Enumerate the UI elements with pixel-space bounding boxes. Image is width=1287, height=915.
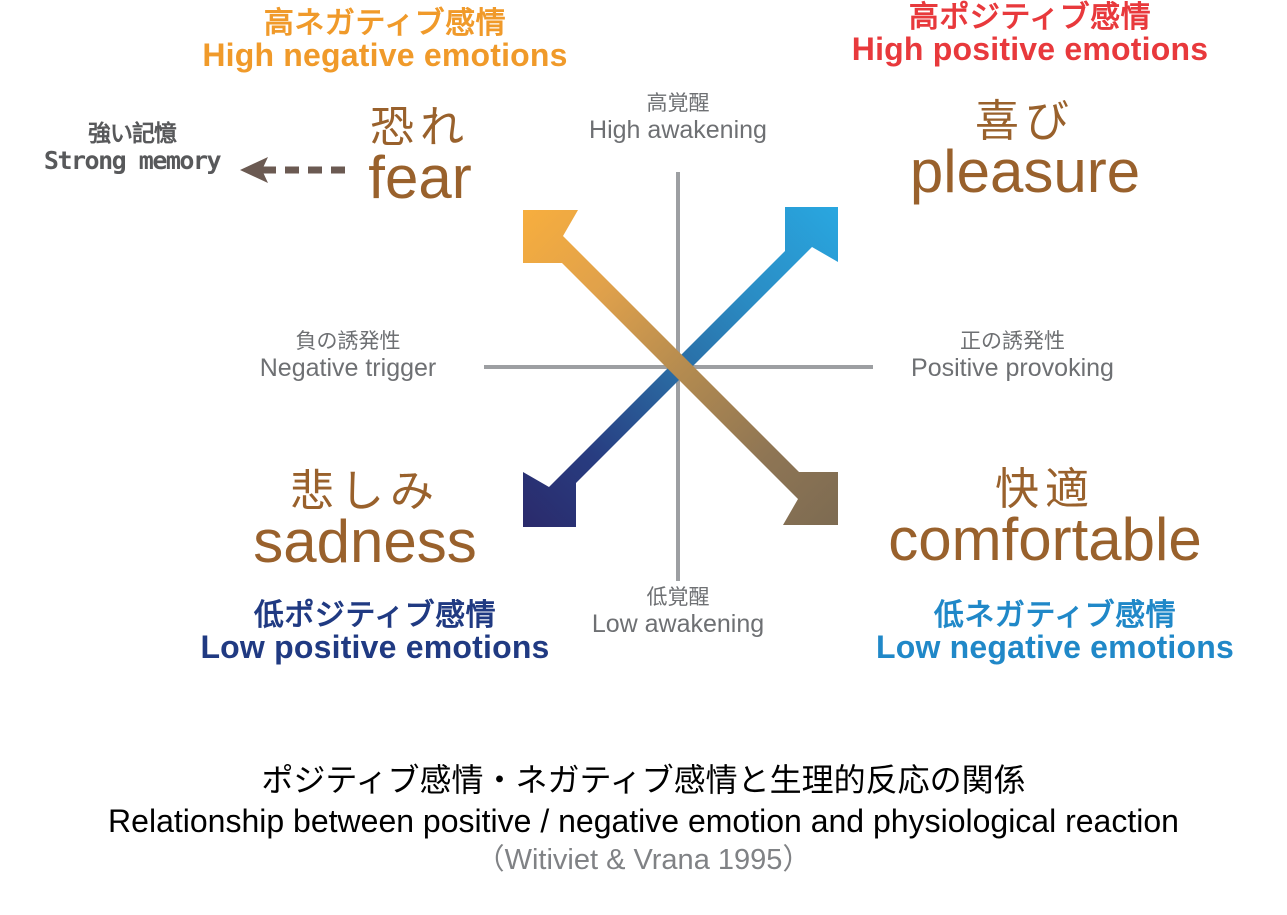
- axis-label-negative-trigger: 負の誘発性 Negative trigger: [238, 330, 458, 382]
- emotion-label-fear: 恐れ fear: [310, 106, 530, 208]
- quadrant-label-low-negative-jp: 低ネガティブ感情: [840, 600, 1270, 631]
- emotion-label-sadness-en: sadness: [215, 512, 515, 572]
- quadrant-label-low-positive: 低ポジティブ感情 Low positive emotions: [150, 600, 600, 664]
- figure-caption-en: Relationship between positive / negative…: [0, 801, 1287, 842]
- diagram-canvas: 高ネガティブ感情 High negative emotions 高ポジティブ感情…: [0, 0, 1287, 915]
- axis-label-high-awakening-en: High awakening: [568, 116, 788, 144]
- quadrant-label-low-negative: 低ネガティブ感情 Low negative emotions: [840, 600, 1270, 664]
- axis-label-high-awakening-jp: 高覚醒: [568, 92, 788, 116]
- quadrant-label-high-positive-en: High positive emotions: [790, 33, 1270, 66]
- emotion-label-comfortable: 快適 comfortable: [835, 468, 1255, 570]
- annotation-strong-memory-en: Strong memory: [32, 147, 232, 174]
- figure-caption-jp: ポジティブ感情・ネガティブ感情と生理的反応の関係: [0, 760, 1287, 801]
- quadrant-label-low-negative-en: Low negative emotions: [840, 631, 1270, 664]
- emotion-label-comfortable-en: comfortable: [835, 510, 1255, 570]
- quadrant-label-high-negative: 高ネガティブ感情 High negative emotions: [175, 8, 595, 72]
- axis-label-negative-trigger-jp: 負の誘発性: [238, 330, 458, 354]
- emotion-label-pleasure: 喜び pleasure: [880, 100, 1170, 202]
- annotation-strong-memory-jp: 強い記憶: [32, 122, 232, 147]
- axis-label-low-awakening-jp: 低覚醒: [568, 586, 788, 610]
- quadrant-label-low-positive-en: Low positive emotions: [150, 631, 600, 664]
- axis-label-low-awakening: 低覚醒 Low awakening: [568, 586, 788, 638]
- quadrant-label-low-positive-jp: 低ポジティブ感情: [150, 600, 600, 631]
- quadrant-label-high-positive-jp: 高ポジティブ感情: [790, 2, 1270, 33]
- axis-label-negative-trigger-en: Negative trigger: [238, 354, 458, 382]
- annotation-strong-memory: 強い記憶 Strong memory: [32, 122, 232, 174]
- quadrant-label-high-negative-en: High negative emotions: [175, 39, 595, 72]
- figure-caption-source: （Witiviet & Vrana 1995）: [0, 842, 1287, 879]
- axis-label-positive-provoking: 正の誘発性 Positive provoking: [895, 330, 1130, 382]
- emotion-label-sadness: 悲しみ sadness: [215, 470, 515, 572]
- axis-label-high-awakening: 高覚醒 High awakening: [568, 92, 788, 144]
- quadrant-label-high-negative-jp: 高ネガティブ感情: [175, 8, 595, 39]
- figure-caption: ポジティブ感情・ネガティブ感情と生理的反応の関係 Relationship be…: [0, 760, 1287, 879]
- quadrant-label-high-positive: 高ポジティブ感情 High positive emotions: [790, 2, 1270, 66]
- axis-label-positive-provoking-jp: 正の誘発性: [895, 330, 1130, 354]
- emotion-label-pleasure-en: pleasure: [880, 142, 1170, 202]
- axis-label-low-awakening-en: Low awakening: [568, 610, 788, 638]
- axis-label-positive-provoking-en: Positive provoking: [895, 354, 1130, 382]
- emotion-label-fear-en: fear: [310, 148, 530, 208]
